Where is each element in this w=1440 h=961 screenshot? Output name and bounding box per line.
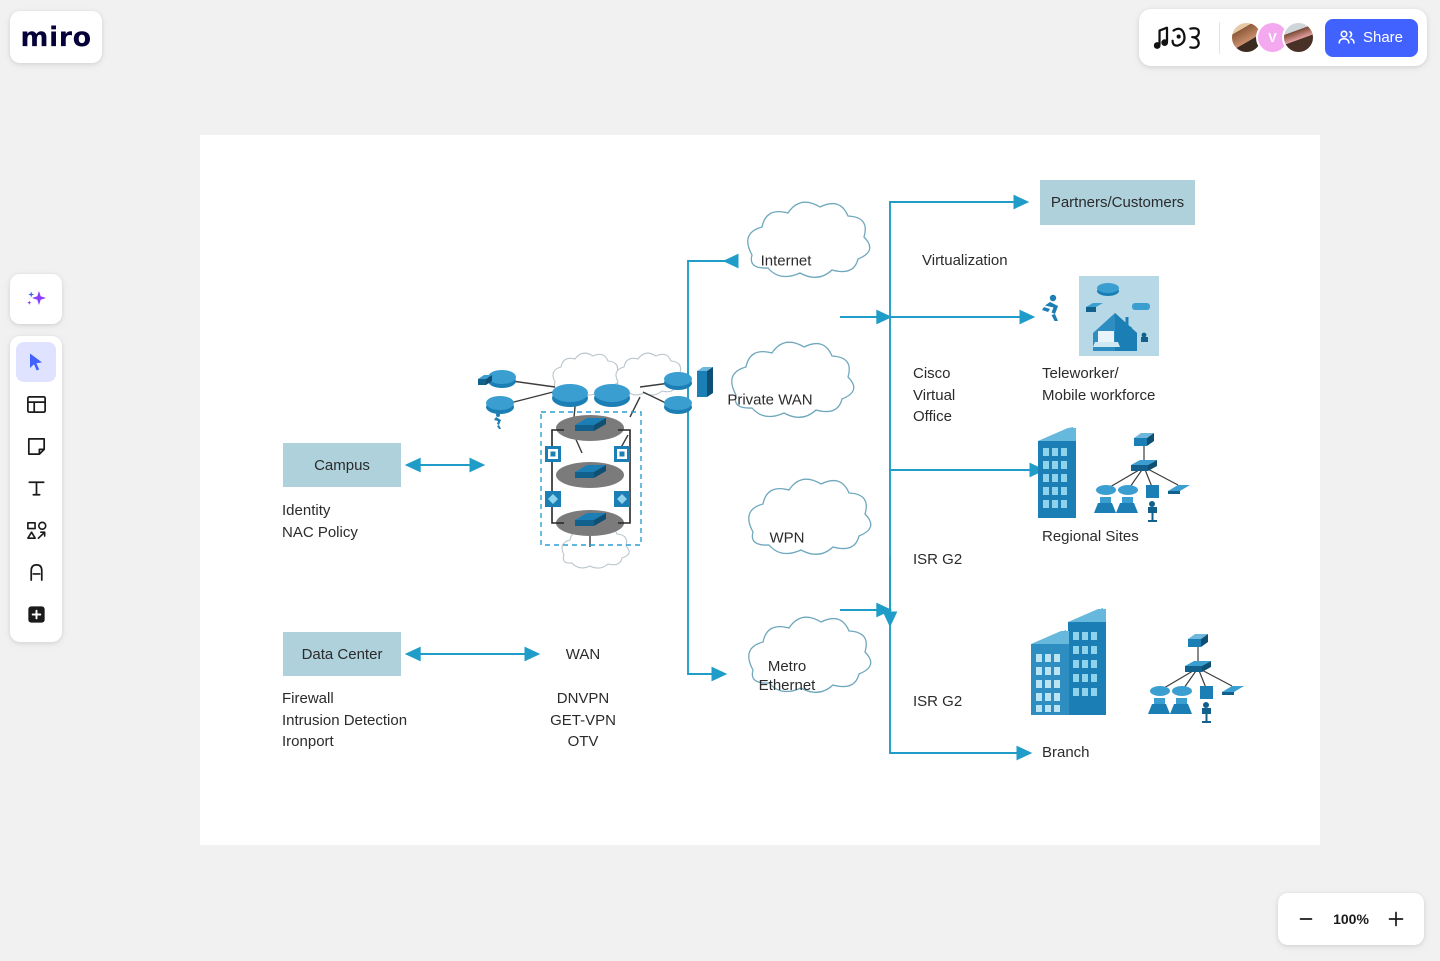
shapes-tool[interactable]: [16, 510, 56, 550]
virtualization-label: Virtualization: [922, 250, 1008, 272]
private-wan-cloud[interactable]: Private WAN: [715, 378, 825, 422]
miro-logo[interactable]: miro: [10, 11, 102, 63]
metro-ethernet-cloud-label: Metro Ethernet: [732, 657, 842, 695]
plus-square-icon: [25, 603, 48, 626]
sparkle-icon: [23, 286, 49, 312]
zoom-in-button[interactable]: [1384, 907, 1408, 931]
campus-box[interactable]: Campus: [283, 443, 401, 487]
minus-icon: [1298, 911, 1314, 927]
regional-sites-label: Regional Sites: [1042, 526, 1139, 548]
branch-buildings-icon: [1031, 608, 1106, 715]
wan-services-label: DNVPN GET-VPN OTV: [533, 688, 633, 753]
data-center-box[interactable]: Data Center: [283, 632, 401, 676]
data-center-box-label: Data Center: [302, 646, 383, 663]
regional-sites-building-icon: [1038, 427, 1076, 518]
cisco-virtual-office-label: Cisco Virtual Office: [913, 363, 955, 428]
pen-icon: [25, 561, 48, 584]
branch-network-icon: [1148, 634, 1244, 723]
collaborator-avatars: V: [1230, 21, 1315, 54]
board-canvas[interactable]: Campus Data Center Partners/Customers In…: [200, 135, 1320, 845]
data-center-services-label: Firewall Intrusion Detection Ironport: [282, 688, 407, 753]
ai-sparkle-tool[interactable]: [16, 279, 56, 319]
people-icon: [1337, 28, 1356, 47]
internet-cloud[interactable]: Internet: [731, 239, 841, 283]
toolbar-main-panel: [10, 336, 62, 642]
wpn-cloud-label: WPN: [732, 529, 842, 548]
zoom-level-value[interactable]: 100%: [1333, 911, 1369, 927]
sticky-note-icon: [25, 435, 48, 458]
avatar[interactable]: [1282, 21, 1315, 54]
select-tool[interactable]: [16, 342, 56, 382]
teleworker-home-office-icon: [1079, 276, 1159, 356]
regional-sites-network-icon: [1094, 433, 1190, 522]
isr-g2-lower-label: ISR G2: [913, 691, 962, 713]
more-tools[interactable]: [16, 594, 56, 634]
plus-icon: [1387, 910, 1405, 928]
text-tool[interactable]: [16, 468, 56, 508]
isr-g2-upper-label: ISR G2: [913, 549, 962, 571]
zoom-control: 100%: [1278, 893, 1424, 945]
partners-customers-box-label: Partners/Customers: [1051, 194, 1184, 211]
metro-ethernet-cloud[interactable]: Metro Ethernet: [732, 653, 842, 699]
wpn-cloud[interactable]: WPN: [732, 516, 842, 560]
campus-services-label: Identity NAC Policy: [282, 500, 358, 543]
teleworker-label: Teleworker/ Mobile workforce: [1042, 363, 1155, 406]
miro-logo-text: miro: [20, 22, 91, 53]
header-divider: [1219, 22, 1220, 54]
campus-box-label: Campus: [314, 457, 370, 474]
shapes-icon: [25, 519, 48, 542]
private-wan-cloud-label: Private WAN: [715, 391, 825, 410]
miro-board-app: miro V: [0, 0, 1440, 961]
music-doodle-icon[interactable]: [1153, 21, 1209, 55]
runner-icon: [1042, 295, 1058, 321]
branch-label: Branch: [1042, 742, 1090, 764]
pen-tool[interactable]: [16, 552, 56, 592]
text-icon: [25, 477, 48, 500]
templates-tool[interactable]: [16, 384, 56, 424]
partners-customers-box[interactable]: Partners/Customers: [1040, 180, 1195, 225]
share-button-label: Share: [1363, 29, 1403, 46]
share-button[interactable]: Share: [1325, 19, 1418, 57]
internet-cloud-label: Internet: [731, 252, 841, 271]
header-right-cluster: V Share: [1139, 9, 1427, 66]
toolbar-ai-panel: [10, 274, 62, 324]
sticky-note-tool[interactable]: [16, 426, 56, 466]
templates-icon: [25, 393, 48, 416]
cursor-icon: [25, 351, 47, 373]
wan-title-label: WAN: [543, 644, 623, 666]
zoom-out-button[interactable]: [1294, 907, 1318, 931]
